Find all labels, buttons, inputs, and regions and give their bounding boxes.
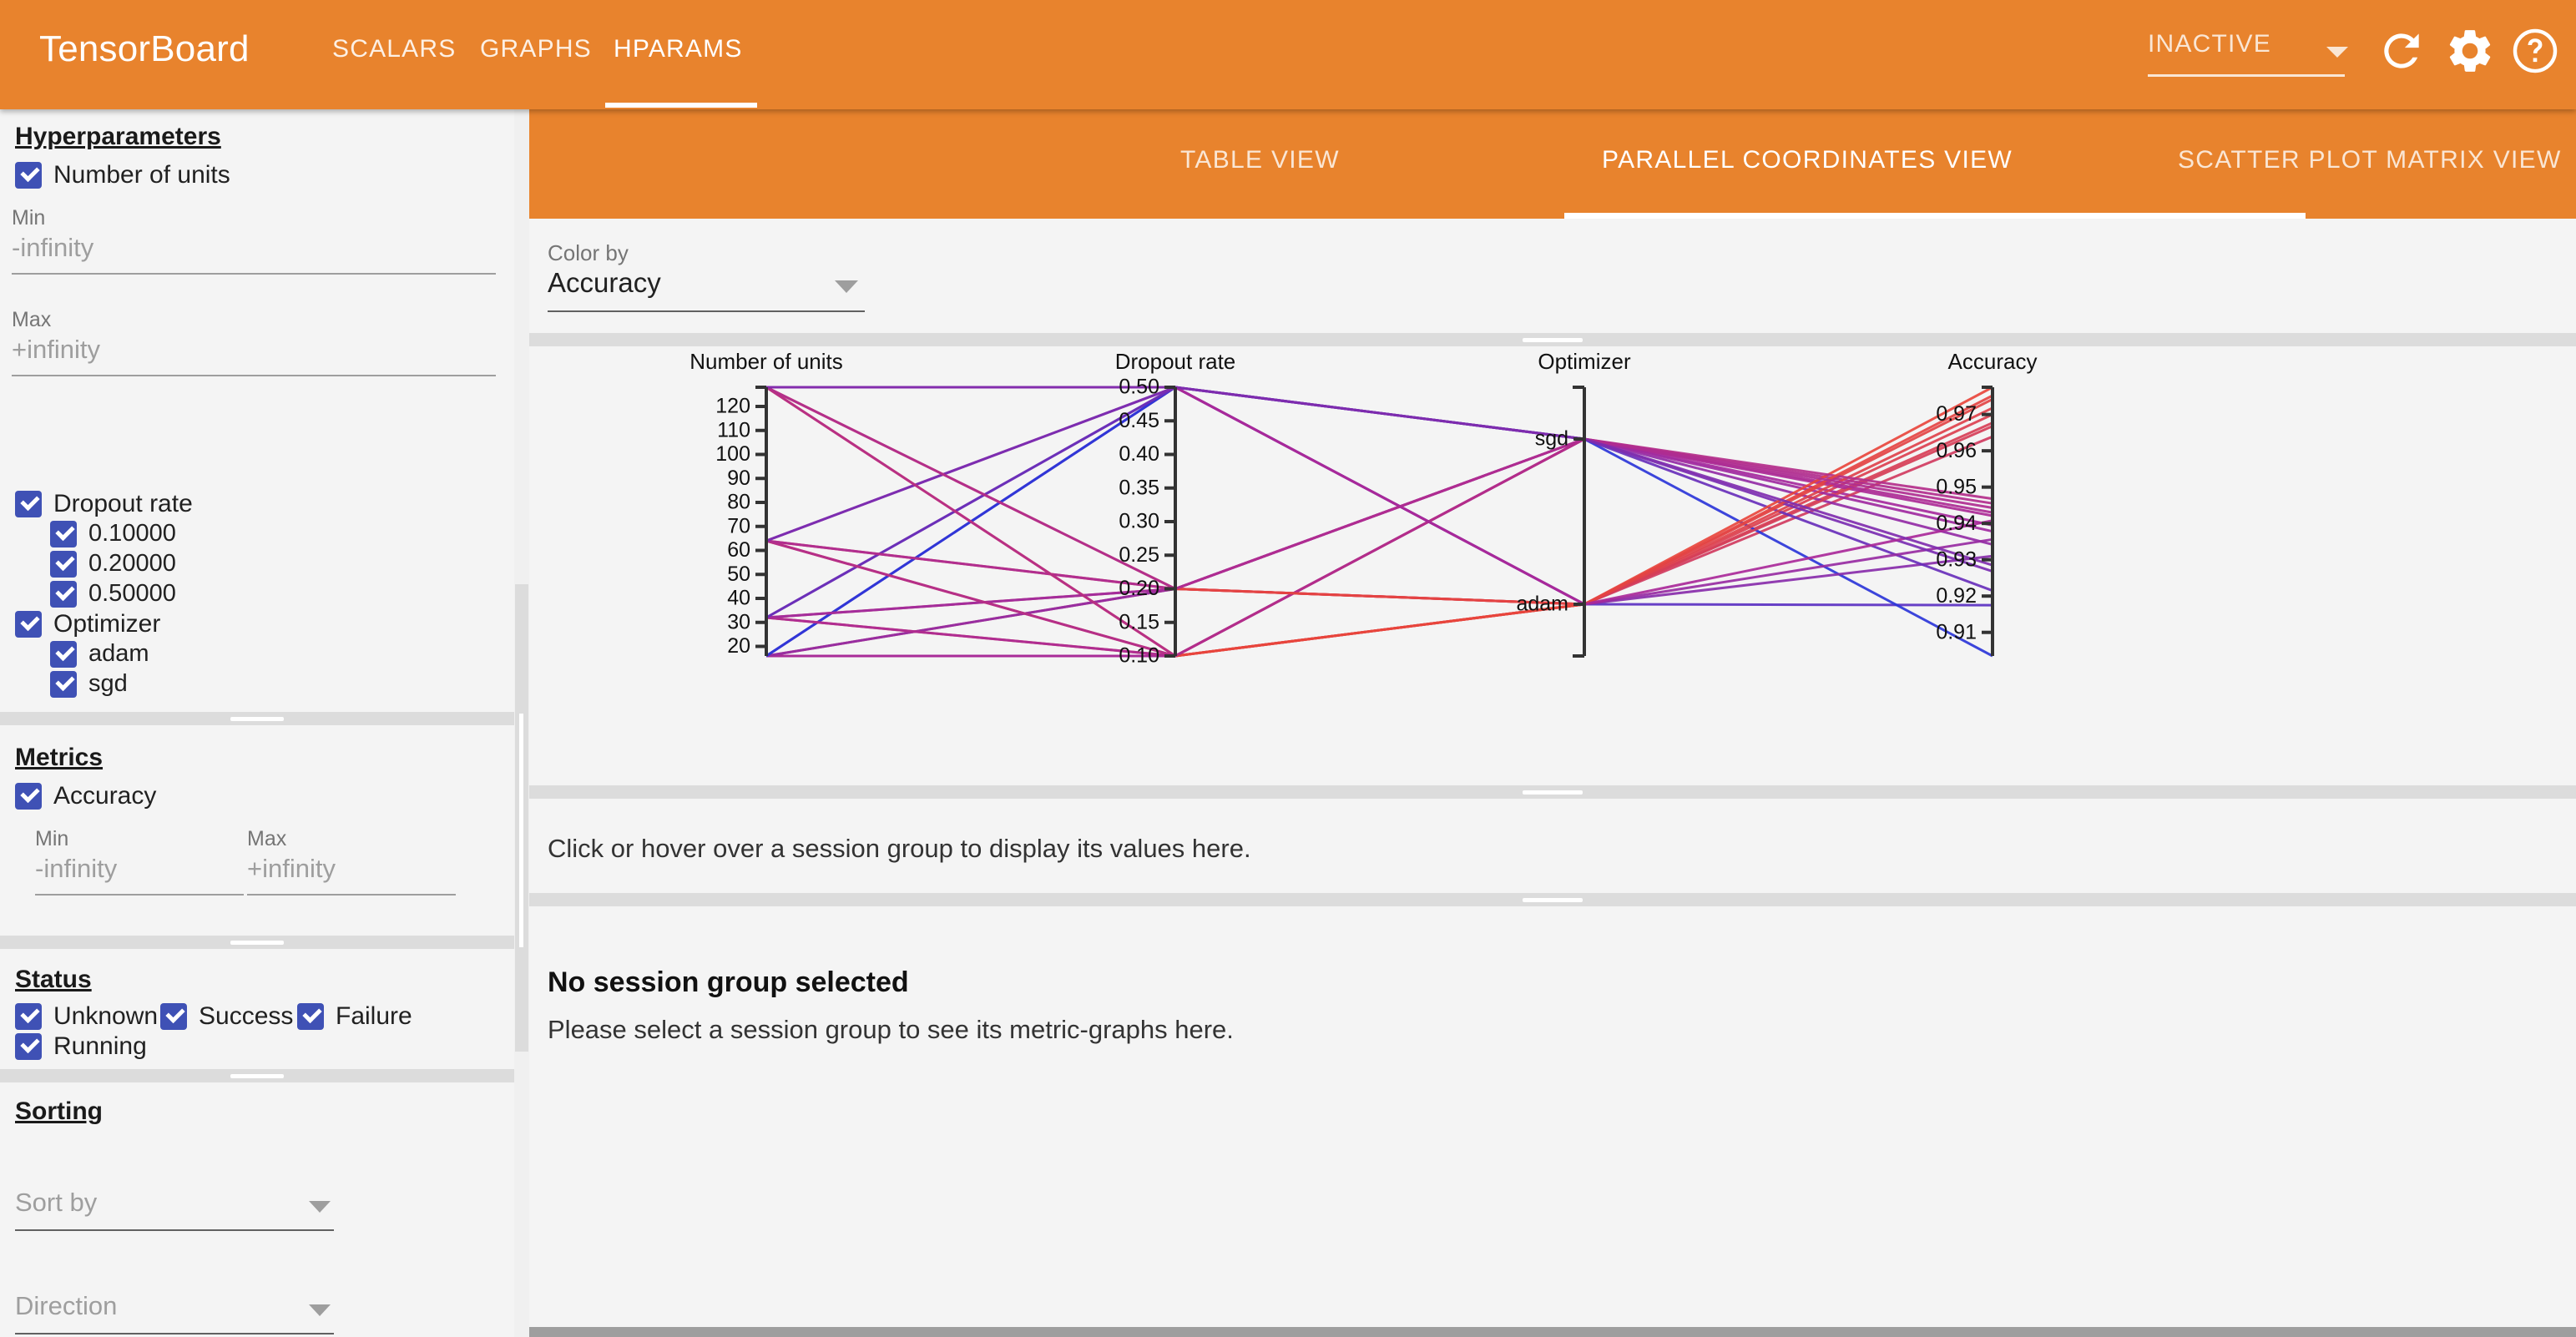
checkbox-optimizer-adam[interactable] xyxy=(50,641,77,668)
checkbox-status-running[interactable] xyxy=(15,1033,42,1060)
panel-divider-3[interactable] xyxy=(529,893,2576,906)
sidebar-divider-3[interactable] xyxy=(0,1069,514,1082)
checkbox-row-status-unknown[interactable]: Unknown xyxy=(15,1002,158,1031)
checkbox-dropout-rate[interactable] xyxy=(15,491,42,517)
panel-divider-1[interactable] xyxy=(529,333,2576,346)
help-icon[interactable] xyxy=(2509,25,2561,77)
color-by-panel: Color by Accuracy xyxy=(529,219,2576,333)
pc-line[interactable] xyxy=(766,387,1993,618)
no-selection-title: No session group selected xyxy=(548,966,909,999)
pc-line[interactable] xyxy=(766,387,1993,618)
input-accuracy-min[interactable]: -infinity xyxy=(35,855,244,896)
color-by-select[interactable]: Accuracy xyxy=(548,270,865,312)
checkbox-dropout-0-2[interactable] xyxy=(50,551,77,578)
chevron-down-icon xyxy=(835,280,858,293)
tick-label: 40 xyxy=(727,587,750,610)
tab-table-view[interactable]: TABLE VIEW xyxy=(1180,146,1340,194)
sort-by-select[interactable]: Sort by xyxy=(15,1191,334,1231)
label-optimizer: Optimizer xyxy=(53,610,160,638)
nav-tab-scalars[interactable]: SCALARS xyxy=(332,35,456,85)
chevron-down-icon xyxy=(309,1201,331,1213)
checkbox-status-unknown[interactable] xyxy=(15,1003,42,1030)
tick-label: sgd xyxy=(1535,427,1568,451)
checkbox-row-status-running[interactable]: Running xyxy=(15,1032,147,1061)
label-dropout-0-5: 0.50000 xyxy=(88,580,176,608)
value-accuracy-max: +infinity xyxy=(247,854,336,884)
input-units-min[interactable]: -infinity xyxy=(12,235,496,275)
checkbox-row-dropout-rate[interactable]: Dropout rate xyxy=(15,490,193,518)
pc-line[interactable] xyxy=(766,423,1993,656)
section-title-sorting: Sorting xyxy=(15,1097,103,1126)
tick-label: 0.94 xyxy=(1936,512,1977,535)
sort-by-placeholder: Sort by xyxy=(15,1188,97,1218)
run-status-label: INACTIVE xyxy=(2148,30,2271,58)
tick-label: 120 xyxy=(715,395,750,418)
checkbox-status-failure[interactable] xyxy=(297,1003,324,1030)
color-by-value: Accuracy xyxy=(548,267,661,299)
tab-parallel-coordinates-view[interactable]: PARALLEL COORDINATES VIEW xyxy=(1602,146,2013,194)
view-tab-bar: TABLE VIEW PARALLEL COORDINATES VIEW SCA… xyxy=(529,109,2576,219)
checkbox-row-dropout-0-5[interactable]: 0.50000 xyxy=(50,580,176,608)
main-content: TABLE VIEW PARALLEL COORDINATES VIEW SCA… xyxy=(529,109,2576,1337)
label-dropout-rate: Dropout rate xyxy=(53,490,193,518)
label-number-of-units: Number of units xyxy=(53,161,230,189)
input-units-max[interactable]: +infinity xyxy=(12,336,496,376)
value-units-min: -infinity xyxy=(12,233,93,263)
tick-label: 80 xyxy=(727,491,750,514)
tick-label: 0.10 xyxy=(1119,644,1159,668)
checkbox-row-optimizer-sgd[interactable]: sgd xyxy=(50,670,128,698)
tab-scatter-plot-matrix-view[interactable]: SCATTER PLOT MATRIX VIEW xyxy=(2178,146,2562,194)
checkbox-row-dropout-0-2[interactable]: 0.20000 xyxy=(50,550,176,578)
app-title: TensorBoard xyxy=(39,28,250,70)
tick-label: 0.97 xyxy=(1936,402,1977,426)
sidebar-section-sorting: Sorting Sort by Direction xyxy=(0,1082,514,1337)
sidebar: Hyperparameters Number of units Min -inf… xyxy=(0,109,514,1337)
checkbox-row-optimizer-adam[interactable]: adam xyxy=(50,640,149,668)
tick-label: 0.25 xyxy=(1119,543,1159,567)
tick-label: 60 xyxy=(727,538,750,562)
label-status-failure: Failure xyxy=(336,1002,412,1031)
label-optimizer-sgd: sgd xyxy=(88,670,128,698)
tick-label: 0.15 xyxy=(1119,610,1159,633)
nav-tab-graphs[interactable]: GRAPHS xyxy=(480,35,592,85)
checkbox-row-dropout-0-1[interactable]: 0.10000 xyxy=(50,520,176,547)
label-accuracy: Accuracy xyxy=(53,782,156,810)
label-accuracy-max: Max xyxy=(247,827,286,851)
app-header: TensorBoard SCALARS GRAPHS HPARAMS INACT… xyxy=(0,0,2576,109)
nav-tab-active-underline xyxy=(605,103,757,108)
parallel-coordinates-chart[interactable]: 2030405060708090100110120Number of units… xyxy=(529,346,2576,785)
tick-label: 90 xyxy=(727,467,750,490)
checkbox-row-status-success[interactable]: Success xyxy=(160,1002,293,1031)
checkbox-accuracy[interactable] xyxy=(15,783,42,810)
nav-tab-hparams[interactable]: HPARAMS xyxy=(614,35,743,85)
axis-title[interactable]: Dropout rate xyxy=(1115,349,1236,374)
checkbox-number-of-units[interactable] xyxy=(15,162,42,189)
chevron-down-icon xyxy=(2326,47,2348,58)
checkbox-row-accuracy[interactable]: Accuracy xyxy=(15,782,156,810)
tick-label: 0.95 xyxy=(1936,475,1977,498)
checkbox-optimizer-sgd[interactable] xyxy=(50,671,77,698)
pc-axis-dropout-rate[interactable]: 0.100.150.200.250.300.350.400.450.50Drop… xyxy=(1115,349,1236,668)
checkbox-optimizer[interactable] xyxy=(15,611,42,638)
dropdown-underline xyxy=(2148,74,2345,77)
sidebar-subsection-discrete-hparams: Dropout rate 0.10000 0.20000 0.50000 Opt… xyxy=(0,498,514,712)
tick-label: 110 xyxy=(717,418,750,441)
pc-axis-number-of-units[interactable]: 2030405060708090100110120Number of units xyxy=(689,349,843,658)
sidebar-section-metrics: Metrics Accuracy Min -infinity Max +infi… xyxy=(0,725,514,936)
tick-label: 0.35 xyxy=(1119,476,1159,499)
run-status-dropdown[interactable]: INACTIVE xyxy=(2148,25,2355,87)
label-status-success: Success xyxy=(199,1002,293,1031)
tick-label: 30 xyxy=(727,610,750,633)
section-title-hyperparameters: Hyperparameters xyxy=(15,123,221,151)
value-units-max: +infinity xyxy=(12,335,100,365)
checkbox-row-optimizer[interactable]: Optimizer xyxy=(15,610,160,638)
label-units-max: Max xyxy=(12,308,51,332)
tick-label: 70 xyxy=(727,514,750,537)
no-selection-subtitle: Please select a session group to see its… xyxy=(548,1015,1234,1045)
tick-label: 0.40 xyxy=(1119,442,1159,466)
metric-graphs-panel: No session group selected Please select … xyxy=(529,906,2576,1337)
tick-label: 0.91 xyxy=(1936,620,1977,643)
direction-select[interactable]: Direction xyxy=(15,1294,334,1334)
horizontal-scrollbar[interactable] xyxy=(529,1327,2576,1337)
checkbox-dropout-0-1[interactable] xyxy=(50,521,77,547)
color-by-label: Color by xyxy=(548,240,629,266)
axis-title[interactable]: Optimizer xyxy=(1538,349,1631,374)
value-accuracy-min: -infinity xyxy=(35,854,117,884)
sidebar-scrollbar-thumb[interactable] xyxy=(515,584,528,1052)
tick-label: 0.93 xyxy=(1936,547,1977,571)
pc-axis-optimizer[interactable]: adamsgdOptimizer xyxy=(1516,349,1631,656)
checkbox-dropout-0-5[interactable] xyxy=(50,581,77,608)
tick-label: adam xyxy=(1516,593,1568,616)
pc-line[interactable] xyxy=(766,439,1993,618)
tick-label: 0.92 xyxy=(1936,584,1977,608)
checkbox-status-success[interactable] xyxy=(160,1003,187,1030)
label-status-running: Running xyxy=(53,1032,147,1061)
section-title-metrics: Metrics xyxy=(15,744,103,772)
parallel-coordinates-chart-panel[interactable]: 2030405060708090100110120Number of units… xyxy=(529,346,2576,785)
label-optimizer-adam: adam xyxy=(88,640,149,668)
checkbox-row-status-failure[interactable]: Failure xyxy=(297,1002,412,1031)
label-units-min: Min xyxy=(12,206,45,230)
section-title-status: Status xyxy=(15,966,92,994)
label-dropout-0-2: 0.20000 xyxy=(88,550,176,578)
chevron-down-icon xyxy=(309,1304,331,1316)
sidebar-divider-2[interactable] xyxy=(0,936,514,949)
sidebar-section-status: Status Unknown Success Failure Running xyxy=(0,949,514,1069)
hover-hint-text: Click or hover over a session group to d… xyxy=(548,834,1251,864)
label-status-unknown: Unknown xyxy=(53,1002,158,1031)
axis-title[interactable]: Number of units xyxy=(689,349,843,374)
input-accuracy-max[interactable]: +infinity xyxy=(247,855,456,896)
sidebar-section-hyperparameters: Hyperparameters Number of units Min -inf… xyxy=(0,109,514,498)
refresh-icon[interactable] xyxy=(2376,25,2427,77)
direction-placeholder: Direction xyxy=(15,1291,117,1321)
tick-label: 0.50 xyxy=(1119,376,1159,399)
tick-label: 0.45 xyxy=(1119,409,1159,432)
tick-label: 0.30 xyxy=(1119,510,1159,533)
tick-label: 20 xyxy=(727,634,750,658)
tick-label: 0.20 xyxy=(1119,577,1159,600)
axis-title[interactable]: Accuracy xyxy=(1948,349,2038,374)
session-values-panel: Click or hover over a session group to d… xyxy=(529,799,2576,893)
tick-label: 100 xyxy=(715,442,750,466)
pc-line[interactable] xyxy=(766,399,1993,656)
tick-label: 50 xyxy=(727,563,750,586)
checkbox-row-number-of-units[interactable]: Number of units xyxy=(15,161,230,189)
label-accuracy-min: Min xyxy=(35,827,68,851)
panel-divider-2[interactable] xyxy=(529,785,2576,799)
gear-icon[interactable] xyxy=(2444,25,2496,77)
label-dropout-0-1: 0.10000 xyxy=(88,520,176,547)
tick-label: 0.96 xyxy=(1936,439,1977,462)
view-tab-active-underline xyxy=(1564,213,2306,219)
sidebar-divider-1[interactable] xyxy=(0,712,514,725)
